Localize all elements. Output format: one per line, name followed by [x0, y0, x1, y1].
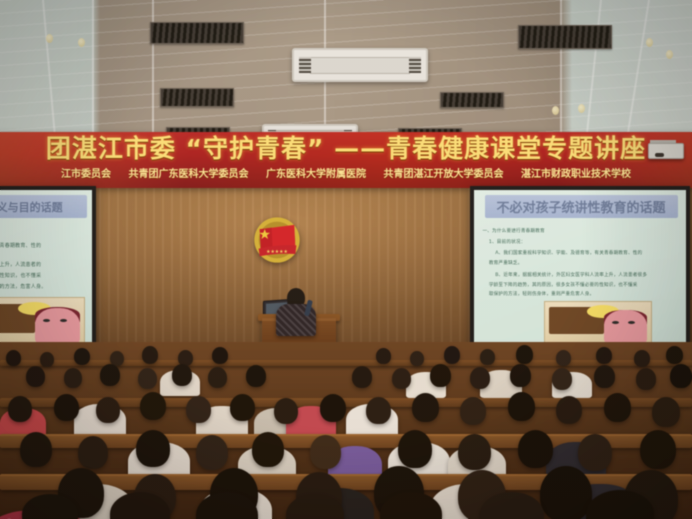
audience-head	[140, 392, 166, 420]
audience-head	[100, 364, 120, 386]
ceiling-vent	[160, 88, 234, 107]
ceiling-vent	[150, 22, 244, 44]
audience-head	[596, 347, 612, 364]
audience-head	[274, 398, 298, 424]
emblem-ribbon-text: ★★★★★	[266, 249, 288, 255]
slide-left-line: 不懂必要的性知识，也不懂采	[0, 272, 89, 279]
ceiling-seam	[152, 0, 154, 140]
banner-org: 湛江市财政职业技术学校	[521, 169, 631, 180]
audience-head	[252, 432, 284, 467]
audience-head	[480, 349, 495, 365]
audience-head	[136, 430, 170, 467]
audience-head	[460, 397, 486, 425]
slide-left-line: 教育、有关青春期教育、性的	[0, 242, 89, 249]
ceiling-vent	[440, 92, 504, 108]
ceiling-projector	[648, 143, 684, 159]
projector-lens	[655, 153, 664, 158]
audience-head	[652, 397, 680, 427]
audience-head	[510, 364, 531, 387]
slide-right-line: 教育严重缺乏。	[489, 260, 680, 266]
cartoon-eye	[43, 319, 50, 322]
audience-head	[186, 396, 211, 423]
audience-head	[172, 364, 192, 386]
audience-head	[138, 368, 157, 389]
slide-right-line: 学龄至下降的趋势，其的原因，很多女孩不懂必要的性知识，也不懂采	[489, 282, 680, 288]
audience-head	[594, 365, 615, 388]
audience-head	[604, 393, 631, 422]
audience-head	[366, 397, 391, 424]
ceiling-light	[578, 104, 585, 113]
projection-screen-left: 义与目的话题 教育、有关青春期教育、性的 妇科人流率上升，人流患者的 不懂必要的…	[0, 186, 96, 352]
audience-head	[518, 430, 553, 468]
audience-head	[196, 435, 228, 470]
ceiling-seam	[92, 0, 94, 140]
ceiling-light	[46, 34, 53, 43]
audience-head	[398, 430, 432, 468]
audience-head	[670, 364, 692, 388]
ac-vent-left	[299, 57, 311, 73]
ceiling-light	[646, 38, 653, 47]
audience-head	[310, 435, 341, 469]
audience-head	[458, 434, 491, 470]
cartoon-eye	[612, 321, 619, 324]
slide-left-line: 取保护自己的方法，危害人身。	[0, 283, 89, 290]
slide-right: 不必对孩子统讲性教育的话题 一、为什么要进行青春期教育 1、目前的状况： A、我…	[474, 190, 686, 348]
audience-head	[376, 348, 391, 364]
audience-head	[6, 350, 21, 366]
slide-right-cartoon	[544, 301, 652, 347]
slide-left-title: 义与目的话题	[0, 195, 87, 219]
banner-org: 共青团广东医科大学委员会	[129, 169, 249, 180]
audience-head	[556, 396, 582, 424]
slide-right-line: B、近年来，据据相关统计，外区妇女医学科人流率上升，人流患者很多	[495, 272, 682, 278]
banner-org: 江市委员会	[61, 169, 111, 180]
audience-head	[578, 434, 612, 471]
auditorium-photo: 团湛江市委 “守护青春” ——青春健康课堂专题讲座 江市委员会 共青团广东医科大…	[0, 0, 692, 519]
slide-right-line: 一、为什么要进行青春期教育	[482, 228, 681, 234]
audience-head	[634, 350, 650, 367]
audience-head	[666, 346, 683, 364]
audience-head	[540, 466, 592, 519]
banner-org: 共青团湛江开放大学委员会	[383, 169, 503, 180]
audience-head	[352, 366, 372, 388]
projection-screen-right: 不必对孩子统讲性教育的话题 一、为什么要进行青春期教育 1、目前的状况： A、我…	[470, 186, 690, 352]
slide-right-line: A、我们国家重视科学知识、学能、及德育等，有关青春期教育、性的	[495, 250, 682, 256]
audience-head	[20, 432, 52, 467]
audience-head	[410, 351, 424, 366]
banner-title: 团湛江市委 “守护青春” ——青春健康课堂专题讲座	[0, 132, 692, 166]
audience-head	[392, 368, 411, 389]
event-banner: 团湛江市委 “守护青春” ——青春健康课堂专题讲座 江市委员会 共青团广东医科大…	[0, 132, 692, 188]
audience-head	[508, 392, 535, 421]
ceiling	[0, 0, 692, 140]
ceiling-vent	[518, 25, 612, 49]
ac-vent-right	[409, 57, 421, 73]
slide-left-line: 妇科人流率上升，人流患者的	[0, 261, 89, 268]
audience-head	[636, 368, 656, 390]
audience-head	[320, 394, 346, 422]
audience-head	[64, 368, 82, 388]
audience-head	[208, 367, 227, 388]
audience-head	[246, 365, 266, 387]
cartoon-eye	[628, 321, 635, 324]
slide-right-line: 取保护的方法，轻则伤身体，重则严重危害人身。	[489, 291, 680, 297]
ceiling-light	[78, 38, 85, 47]
slide-left: 义与目的话题 教育、有关青春期教育、性的 妇科人流率上升，人流患者的 不懂必要的…	[0, 190, 92, 348]
audience-head	[96, 397, 120, 423]
slide-left-cartoon	[0, 297, 85, 346]
audience-head	[470, 367, 490, 389]
audience-head	[552, 368, 572, 390]
audience-head	[556, 350, 571, 366]
audience-head	[640, 430, 676, 469]
cartoon-eye	[60, 319, 67, 322]
ac-grille	[310, 57, 410, 75]
audience-head	[516, 345, 533, 364]
audience-head	[54, 394, 79, 421]
audience-head	[142, 346, 158, 364]
audience-head	[26, 366, 45, 387]
audience-head	[212, 347, 228, 364]
audience-head	[78, 436, 108, 469]
ceiling-seam	[560, 0, 562, 140]
audience-head	[230, 394, 255, 421]
audience-head	[412, 393, 439, 422]
banner-organizations: 江市委员会 共青团广东医科大学委员会 广东医科大学附属医院 共青团湛江开放大学委…	[0, 166, 692, 184]
cartoon-face	[35, 308, 79, 345]
cartoon-face	[604, 310, 646, 345]
audience-head	[74, 348, 90, 365]
slide-right-title: 不必对孩子统讲性教育的话题	[485, 195, 678, 219]
banner-org: 广东医科大学附属医院	[266, 169, 366, 180]
audience-area	[0, 342, 692, 519]
audience-head	[8, 396, 32, 422]
slide-right-line: 1、目前的状况：	[489, 239, 684, 245]
audience-head	[430, 364, 451, 387]
communist-youth-league-emblem: ★★★★★	[249, 213, 305, 267]
ceiling-ac-unit	[292, 48, 428, 82]
audience-head	[444, 346, 460, 364]
ceiling-light	[666, 50, 673, 59]
ceiling-light	[552, 106, 559, 115]
audience-head	[40, 352, 54, 367]
